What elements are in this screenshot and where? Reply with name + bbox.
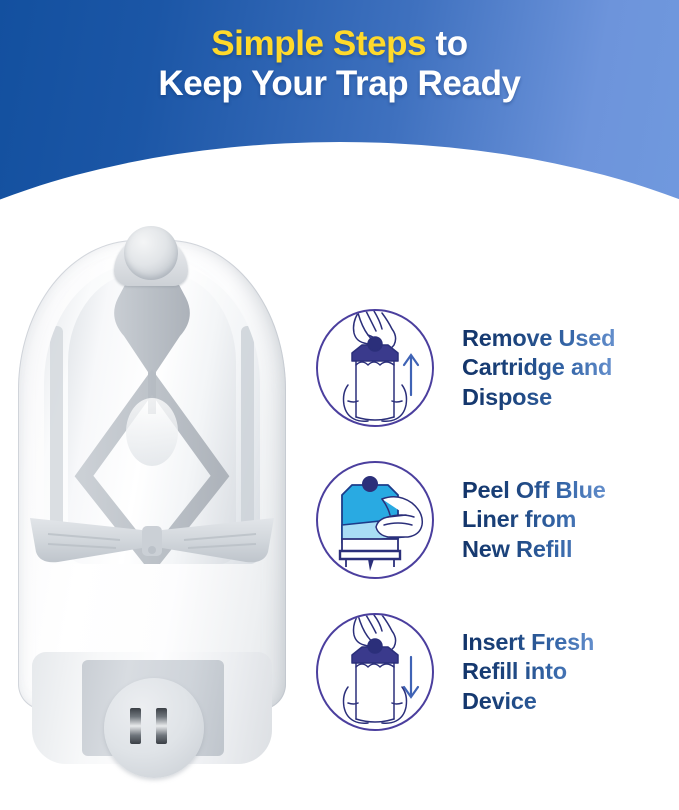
plug-prong-left xyxy=(130,708,141,744)
step-3-line-2: Refill into xyxy=(462,657,594,687)
step-2-line-3: New Refill xyxy=(462,535,606,565)
step-3-text: Insert Fresh Refill into Device xyxy=(462,628,594,717)
device-sensor-knob xyxy=(124,226,178,280)
header-curve-decoration xyxy=(0,142,679,232)
infographic-page: Simple Steps to Keep Your Trap Ready xyxy=(0,0,679,810)
product-device-image xyxy=(8,222,300,802)
page-title: Simple Steps to Keep Your Trap Ready xyxy=(0,24,679,104)
step-2-text: Peel Off Blue Liner from New Refill xyxy=(462,476,606,565)
peel-liner-icon xyxy=(316,461,434,579)
step-3-line-1: Insert Fresh xyxy=(462,628,594,658)
step-2-line-1: Peel Off Blue xyxy=(462,476,606,506)
step-row-3: Insert Fresh Refill into Device xyxy=(316,596,676,748)
plug-prong-right xyxy=(156,708,167,744)
title-line-1: Simple Steps to xyxy=(0,24,679,64)
step-row-1: Remove Used Cartridge and Dispose xyxy=(316,292,676,444)
insert-refill-icon xyxy=(316,613,434,731)
step-1-line-2: Cartridge and xyxy=(462,353,615,383)
title-highlight: Simple Steps xyxy=(211,24,426,63)
title-line-1-rest: to xyxy=(426,24,468,63)
steps-list: Remove Used Cartridge and Dispose xyxy=(316,292,676,748)
step-2-line-2: Liner from xyxy=(462,505,606,535)
step-1-line-1: Remove Used xyxy=(462,324,615,354)
device-wing-bracket xyxy=(24,508,280,570)
step-1-line-3: Dispose xyxy=(462,383,615,413)
plug-disc xyxy=(104,678,204,778)
step-1-text: Remove Used Cartridge and Dispose xyxy=(462,324,615,413)
step-row-2: Peel Off Blue Liner from New Refill xyxy=(316,444,676,596)
step-3-line-3: Device xyxy=(462,687,594,717)
title-line-2: Keep Your Trap Ready xyxy=(0,64,679,104)
device-shell-rim xyxy=(18,240,286,710)
remove-cartridge-icon xyxy=(316,309,434,427)
